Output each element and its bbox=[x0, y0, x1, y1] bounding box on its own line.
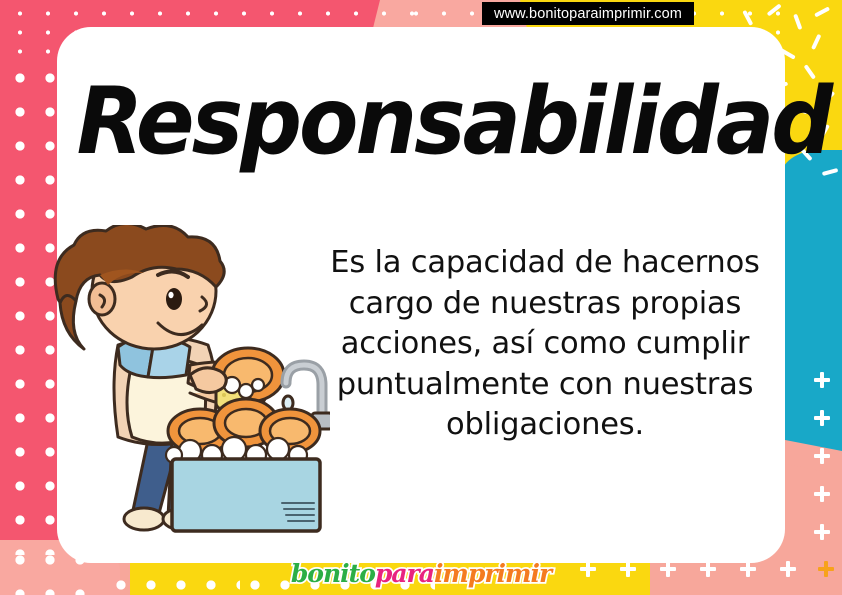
plus-mark bbox=[814, 448, 830, 464]
plus-mark bbox=[814, 486, 830, 502]
plus-mark bbox=[814, 372, 830, 388]
logo-part-para: para bbox=[375, 559, 434, 588]
website-url-banner: www.bonitoparaimprimir.com bbox=[482, 2, 694, 25]
logo-part-bonito: bonito bbox=[291, 559, 375, 588]
plus-mark bbox=[814, 524, 830, 540]
page-title: Responsabilidad bbox=[77, 75, 784, 168]
logo-part-imprimir: imprimir bbox=[434, 559, 551, 588]
site-logo[interactable]: bonitoparaimprimir bbox=[0, 559, 842, 588]
poster-canvas: www.bonitoparaimprimir.com Responsabilid… bbox=[0, 0, 842, 595]
plus-mark bbox=[814, 410, 830, 426]
illustration-boy-washing-dishes bbox=[40, 225, 330, 535]
definition-text: Es la capacidad de hacernos cargo de nue… bbox=[295, 243, 795, 446]
